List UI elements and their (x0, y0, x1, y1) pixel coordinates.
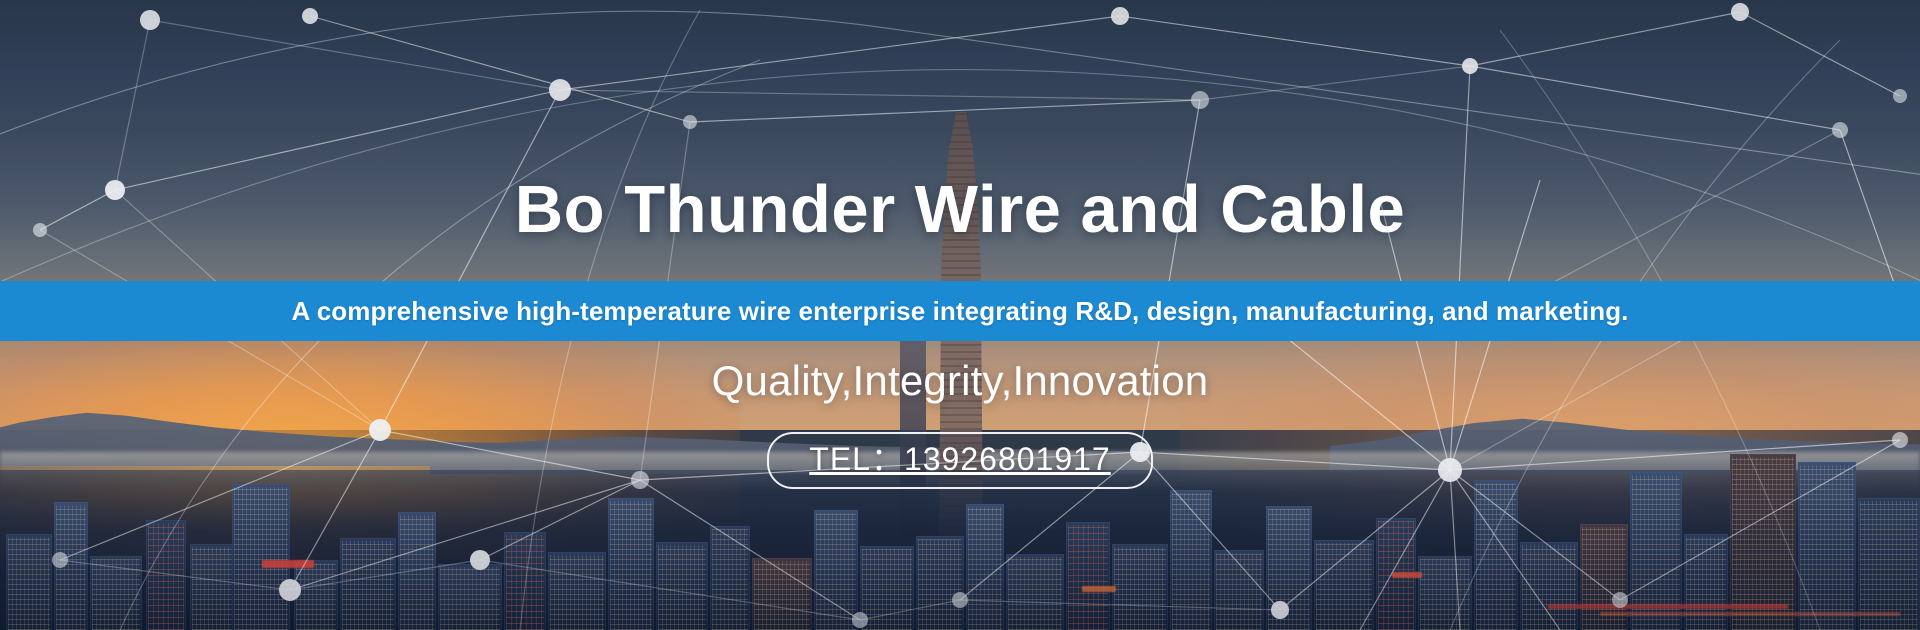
phone-button-container: TEL：13926801917 (0, 432, 1920, 489)
banner-tagline: Quality,Integrity,Innovation (0, 358, 1920, 404)
page-title: Bo Thunder Wire and Cable (0, 176, 1920, 243)
highlight-strip-text: A comprehensive high-temperature wire en… (291, 296, 1628, 327)
highlight-strip: A comprehensive high-temperature wire en… (0, 281, 1920, 341)
phone-cta-button[interactable]: TEL：13926801917 (767, 432, 1152, 489)
hero-banner: Bo Thunder Wire and Cable Quality,Integr… (0, 0, 1920, 630)
